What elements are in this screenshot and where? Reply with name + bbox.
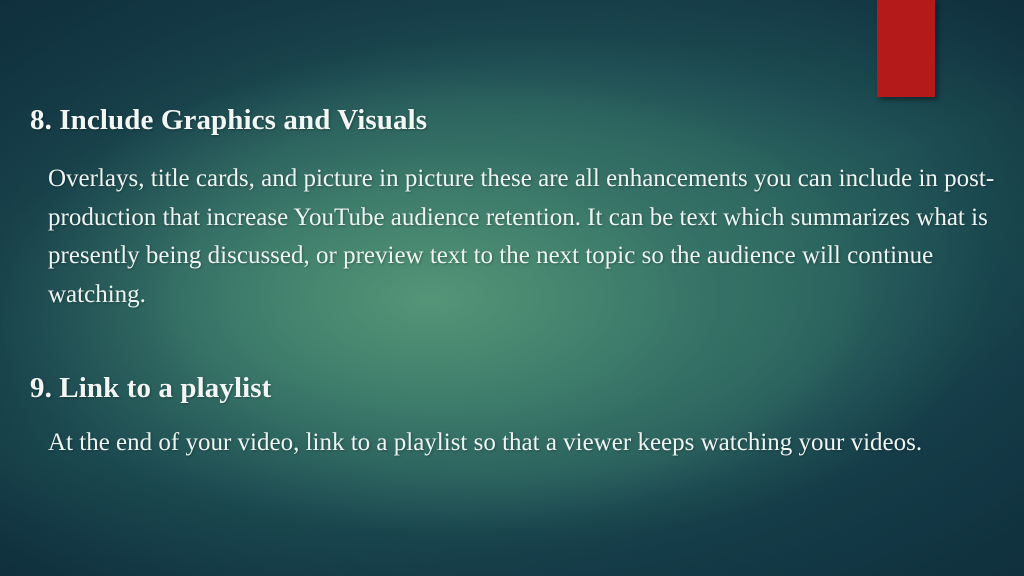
slide-content: 8. Include Graphics and Visuals Overlays… (0, 0, 1024, 576)
presentation-slide: 8. Include Graphics and Visuals Overlays… (0, 0, 1024, 576)
section-body-8: Overlays, title cards, and picture in pi… (48, 160, 1000, 314)
section-heading-8: 8. Include Graphics and Visuals (30, 103, 427, 137)
section-heading-9: 9. Link to a playlist (30, 371, 271, 405)
section-body-9: At the end of your video, link to a play… (48, 424, 1016, 463)
